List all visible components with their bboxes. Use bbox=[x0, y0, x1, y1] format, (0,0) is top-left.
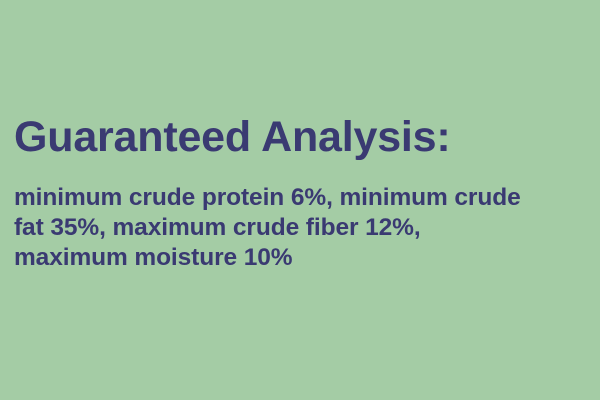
guaranteed-analysis-body: minimum crude protein 6%, minimum crude … bbox=[14, 183, 594, 273]
label-text-block: Guaranteed Analysis: minimum crude prote… bbox=[14, 112, 594, 273]
page-title: Guaranteed Analysis: bbox=[14, 112, 594, 162]
analysis-line-2: fat 35%, maximum crude fiber 12%, bbox=[14, 213, 594, 243]
analysis-line-3: maximum moisture 10% bbox=[14, 243, 594, 273]
analysis-line-1: minimum crude protein 6%, minimum crude bbox=[14, 183, 594, 213]
guaranteed-analysis-label: Guaranteed Analysis: minimum crude prote… bbox=[0, 0, 600, 400]
